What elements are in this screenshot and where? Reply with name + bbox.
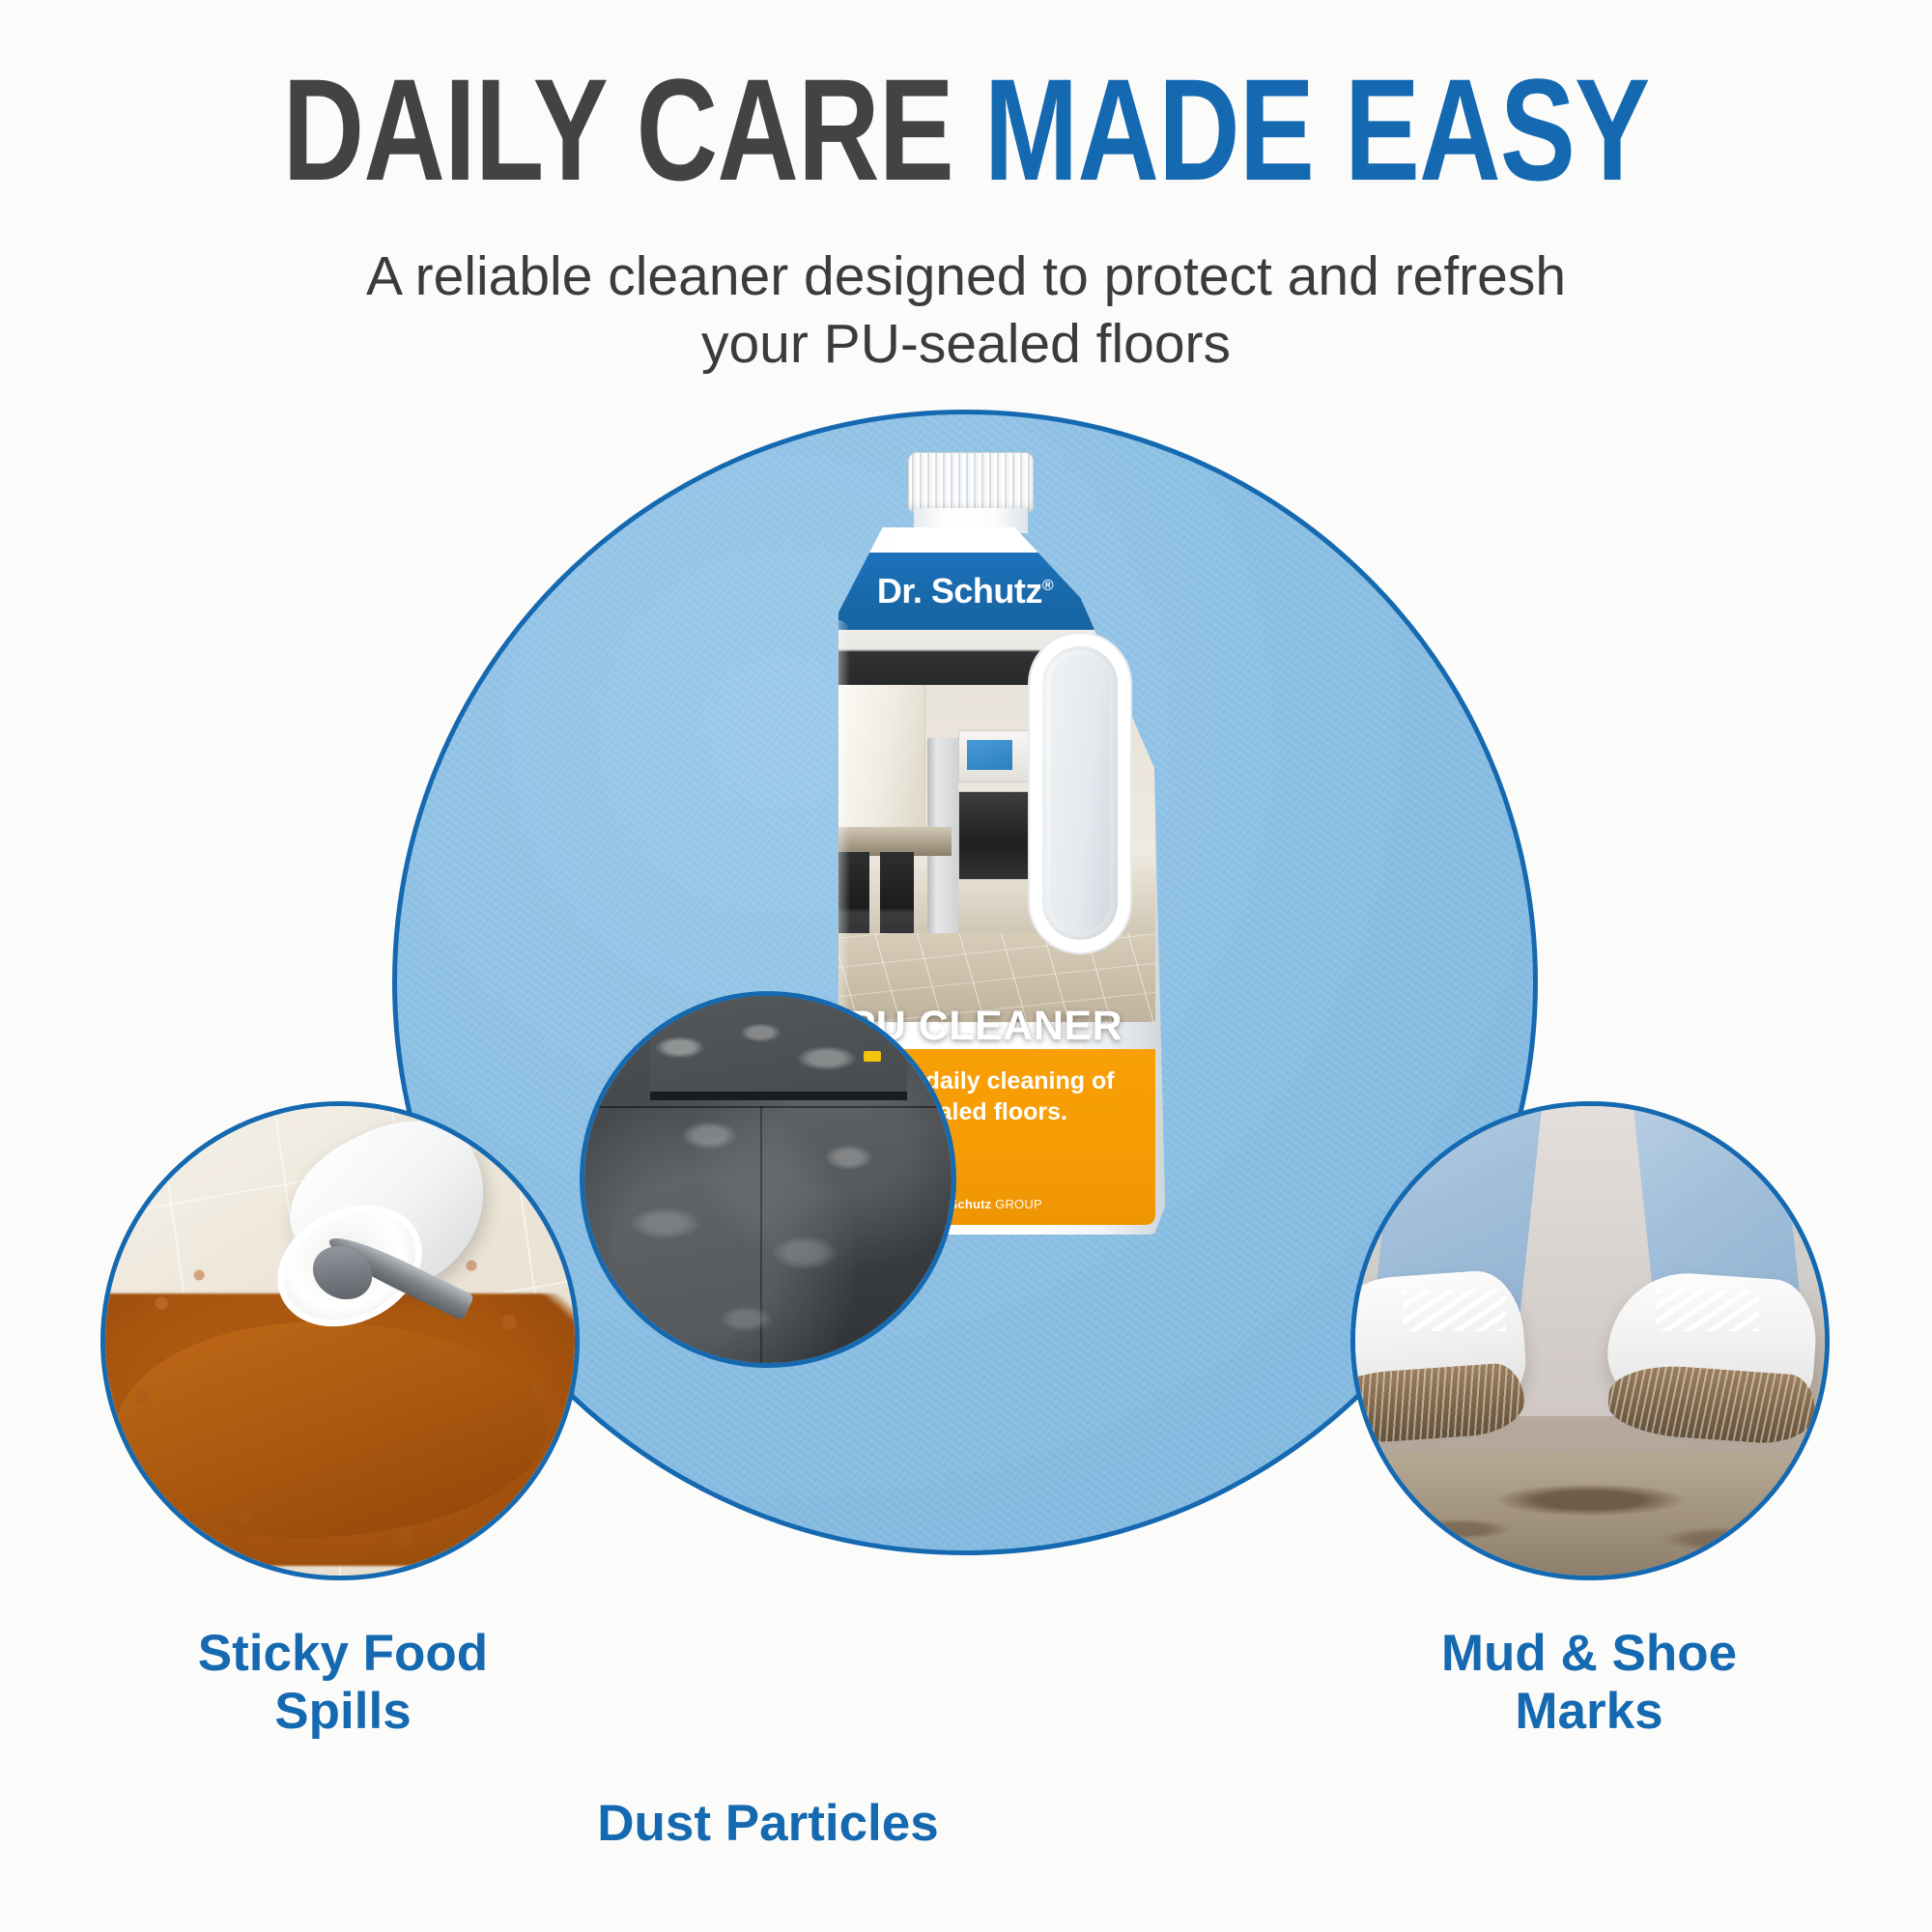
microwave-screen [967,740,1012,770]
feature-image-dust-particles [580,991,956,1368]
caption-line-1: Sticky Food [198,1625,488,1682]
subtitle-line-2: your PU-sealed floors [290,311,1642,379]
bottle-handle-inner [1050,654,1110,932]
feature-mud-shoe-marks [1350,1101,1830,1580]
muddy-floor [1355,1454,1825,1576]
page-subtitle: A reliable cleaner designed to protect a… [290,243,1642,378]
bottle-cap-icon [908,452,1034,512]
footnote-suffix: GROUP [991,1197,1041,1211]
bottle-handle-grip [1030,634,1130,952]
headline-part-accent: MADE EASY [984,48,1650,211]
feature-caption-dust-particles: Dust Particles [541,1795,995,1853]
feature-sticky-food-spills [100,1101,580,1580]
caption-line-1: Dust Particles [597,1795,938,1852]
brand-banner: Dr. Schutz® [815,553,1115,630]
caption-line-2: Spills [274,1683,411,1740]
caption-line-1: Mud & Shoe [1441,1625,1737,1682]
caption-line-2: Marks [1515,1683,1662,1740]
feature-caption-mud-shoe-marks: Mud & Shoe Marks [1304,1625,1874,1742]
shoelaces-right [1656,1290,1759,1332]
subtitle-line-1: A reliable cleaner designed to protect a… [290,243,1642,311]
dusty-footprints [584,996,952,1363]
page-title: DAILY CARE MADE EASY [213,56,1719,204]
feature-image-mud-shoe-marks [1350,1101,1830,1580]
yellow-clip [864,1051,881,1062]
feature-image-sticky-food-spills [100,1101,580,1580]
shoelaces-left [1403,1290,1506,1332]
registered-mark-icon: ® [1042,578,1053,594]
headline-part-primary: DAILY CARE [283,48,953,211]
feature-caption-sticky-food-spills: Sticky Food Spills [58,1625,628,1742]
kitchen-cabinet [829,685,925,839]
brand-name: Dr. Schutz® [877,571,1053,611]
infographic-canvas: DAILY CARE MADE EASY A reliable cleaner … [0,0,1932,1932]
feature-dust-particles [580,991,956,1368]
